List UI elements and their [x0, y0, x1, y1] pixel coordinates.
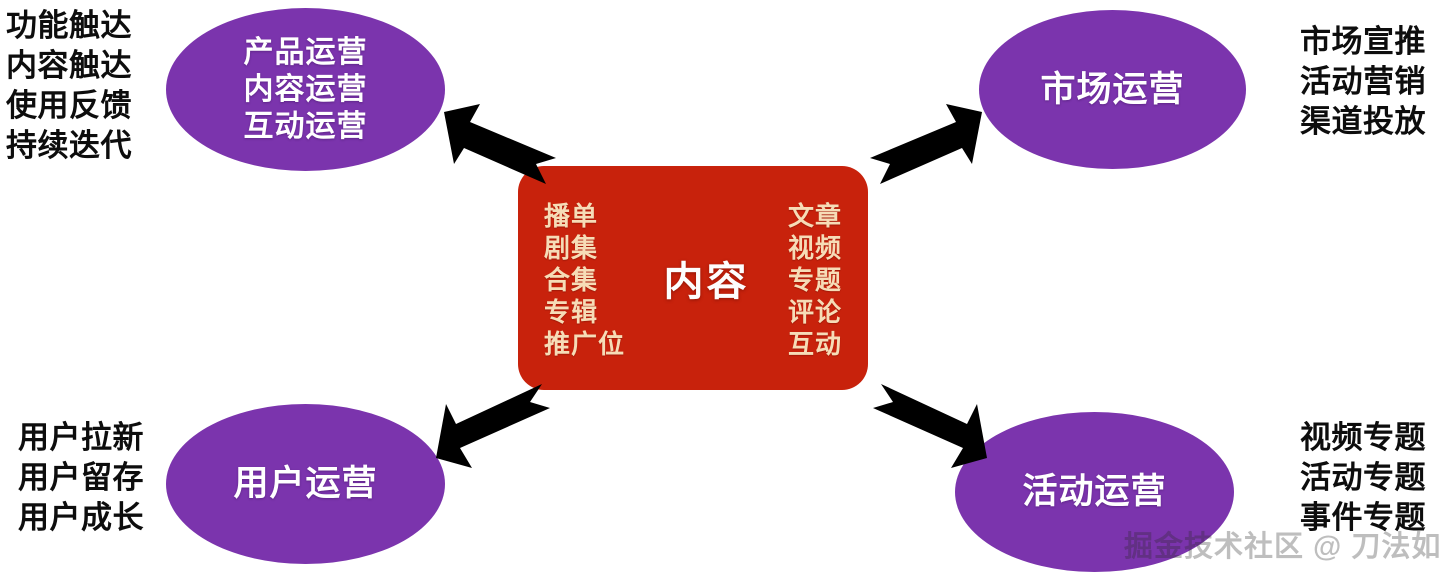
arrow-up-right-icon: [866, 100, 986, 186]
label-line: 渠道投放: [1300, 102, 1426, 142]
node-user-operations[interactable]: 用户运营: [166, 404, 445, 564]
label-product-operations: 功能触达 内容触达 使用反馈 持续迭代: [6, 6, 132, 166]
watermark: 掘金技术社区 @ 刀法如飞: [1124, 530, 1440, 564]
center-item: 专题: [788, 264, 842, 296]
center-item: 文章: [788, 200, 842, 232]
arrow-down-right-icon: [866, 382, 991, 474]
node-label-line: 用户运营: [233, 463, 377, 505]
center-item: 视频: [788, 232, 842, 264]
center-left-items: 播单 剧集 合集 专辑 推广位: [544, 196, 625, 360]
center-item: 互动: [788, 328, 842, 360]
center-item: 专辑: [544, 296, 625, 328]
node-label: 产品运营 内容运营 互动运营: [244, 34, 368, 145]
label-market-operations: 市场宣推 活动营销 渠道投放: [1300, 22, 1426, 142]
center-card-title: 内容: [664, 249, 750, 307]
center-item: 评论: [788, 296, 842, 328]
center-item: 剧集: [544, 232, 625, 264]
center-right-items: 文章 视频 专题 评论 互动: [788, 196, 842, 360]
label-line: 视频专题: [1300, 418, 1426, 458]
label-line: 用户留存: [18, 458, 144, 498]
center-content-card[interactable]: 播单 剧集 合集 专辑 推广位 内容 文章 视频 专题 评论 互动: [518, 166, 868, 390]
label-line: 活动专题: [1300, 458, 1426, 498]
center-item: 合集: [544, 264, 625, 296]
label-line: 使用反馈: [6, 86, 132, 126]
label-line: 用户成长: [18, 498, 144, 538]
node-label-line: 互动运营: [244, 108, 368, 145]
label-line: 持续迭代: [6, 126, 132, 166]
node-label-line: 市场运营: [1040, 69, 1184, 111]
arrow-down-left-icon: [432, 382, 557, 474]
label-activity-operations: 视频专题 活动专题 事件专题: [1300, 418, 1426, 538]
node-label: 活动运营: [1022, 471, 1166, 513]
label-line: 内容触达: [6, 46, 132, 86]
node-label: 市场运营: [1040, 69, 1184, 111]
node-label-line: 内容运营: [244, 71, 368, 108]
arrow-up-left-icon: [440, 100, 560, 186]
label-line: 用户拉新: [18, 418, 144, 458]
center-item: 播单: [544, 200, 625, 232]
node-label-line: 产品运营: [244, 34, 368, 71]
label-line: 功能触达: [6, 6, 132, 46]
node-label-line: 活动运营: [1022, 471, 1166, 513]
node-product-operations[interactable]: 产品运营 内容运营 互动运营: [166, 8, 445, 171]
label-line: 活动营销: [1300, 62, 1426, 102]
node-label: 用户运营: [233, 463, 377, 505]
center-item: 推广位: [544, 328, 625, 360]
label-user-operations: 用户拉新 用户留存 用户成长: [18, 418, 144, 538]
diagram-canvas: 功能触达 内容触达 使用反馈 持续迭代 产品运营 内容运营 互动运营 市场宣推 …: [0, 0, 1440, 576]
node-market-operations[interactable]: 市场运营: [979, 10, 1246, 169]
label-line: 市场宣推: [1300, 22, 1426, 62]
